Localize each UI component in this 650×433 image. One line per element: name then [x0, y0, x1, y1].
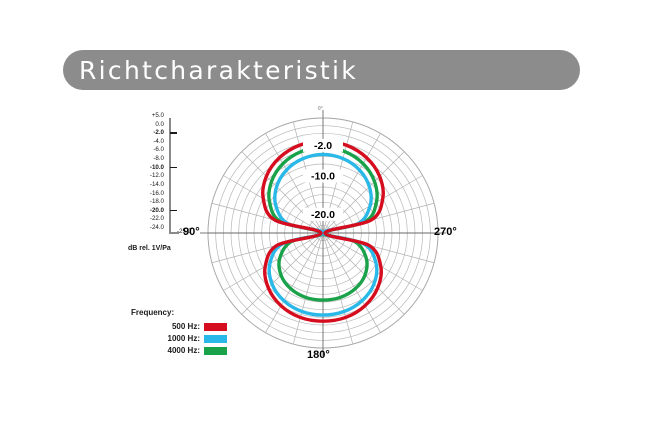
- legend-item: 1000 Hz:: [131, 333, 227, 344]
- db-tick-label: -14.0: [124, 182, 166, 188]
- db-tick-label: +5.0: [124, 113, 166, 119]
- legend-color-swatch: [204, 347, 227, 355]
- db-unit-label: dB rel. 1V/Pa: [128, 245, 171, 252]
- angle-label-180: 180°: [307, 349, 330, 361]
- db-tick-label: 0.0: [124, 122, 166, 128]
- db-tick-label: -2.0: [124, 130, 166, 136]
- db-tick-mark: [170, 210, 177, 212]
- db-tick-label: -4.0: [124, 139, 166, 145]
- angle-label-270: 270°: [434, 226, 457, 238]
- db-tick-label: -22.0: [124, 216, 166, 222]
- angle-label-0: 0°: [318, 106, 323, 112]
- polar-ring-label: -2.0: [314, 140, 332, 152]
- db-tick-label: -12.0: [124, 173, 166, 179]
- legend-item-label: 500 Hz:: [172, 322, 200, 331]
- legend-item: 500 Hz:: [131, 321, 227, 332]
- db-tick-label: -20.0: [124, 208, 166, 214]
- legend-item-label: 1000 Hz:: [168, 334, 200, 343]
- polar-ring-labels: -2.0-10.0-20.0: [303, 139, 343, 221]
- polar-grid-spoke: [293, 236, 322, 344]
- db-tick-label: -18.0: [124, 199, 166, 205]
- polar-ring-label: -20.0: [311, 209, 335, 221]
- db-tick-label: -8.0: [124, 156, 166, 162]
- page-title: Richtcharakteristik: [79, 56, 358, 85]
- legend: Frequency: 500 Hz:1000 Hz:4000 Hz:: [131, 308, 236, 357]
- legend-item-label: 4000 Hz:: [168, 346, 200, 355]
- legend-color-swatch: [204, 335, 227, 343]
- polar-ring-label: -10.0: [311, 171, 335, 183]
- db-tick-label: -10.0: [124, 165, 166, 171]
- angle-label-90: 90°: [183, 226, 200, 238]
- db-tick-label: -24.0: [124, 225, 166, 231]
- legend-rows: 500 Hz:1000 Hz:4000 Hz:: [131, 321, 236, 356]
- db-tick-label: -6.0: [124, 147, 166, 153]
- db-tick-mark: [170, 132, 177, 134]
- page-root: Richtcharakteristik +5.00.0-2.0-4.0-6.0-…: [0, 0, 650, 433]
- legend-item: 4000 Hz:: [131, 345, 227, 356]
- ruler-axis-line: [169, 118, 171, 234]
- db-scale-ruler: +5.00.0-2.0-4.0-6.0-8.0-10.0-12.0-14.0-1…: [128, 112, 206, 242]
- db-tick-label: -16.0: [124, 191, 166, 197]
- db-tick-mark: [170, 167, 177, 169]
- polar-grid-spoke: [324, 236, 353, 344]
- legend-title: Frequency:: [131, 308, 236, 317]
- legend-color-swatch: [204, 323, 227, 331]
